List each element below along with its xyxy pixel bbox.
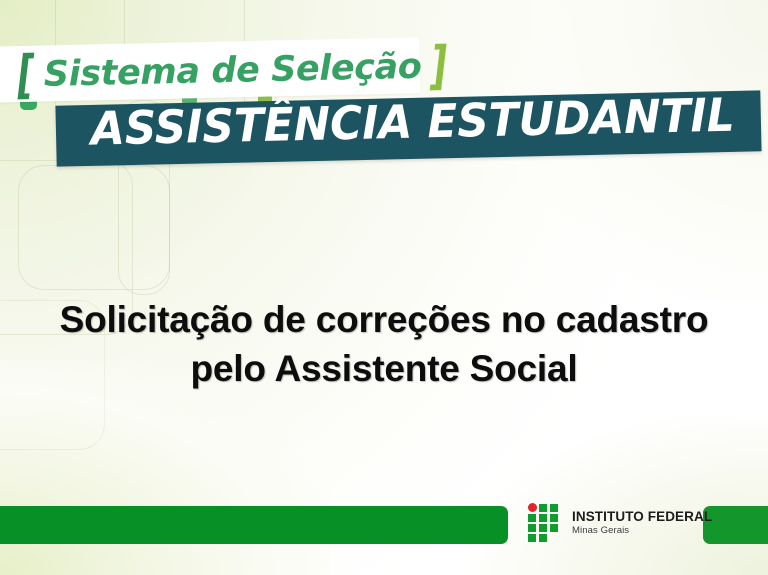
institution-logo-text: INSTITUTO FEDERAL Minas Gerais bbox=[572, 510, 712, 535]
footer-green-bar bbox=[0, 506, 508, 544]
ifmg-grid-logo-icon bbox=[528, 503, 565, 542]
institution-logo: INSTITUTO FEDERAL Minas Gerais bbox=[528, 503, 712, 542]
assistencia-banner-label: ASSISTÊNCIA ESTUDANTIL bbox=[90, 92, 735, 152]
presentation-slide: [ Sistema de Seleção ] ASSISTÊNCIA ESTUD… bbox=[0, 0, 768, 575]
background-glow-bottom-right bbox=[468, 415, 768, 575]
institution-name: INSTITUTO FEDERAL bbox=[572, 510, 712, 524]
footer-green-bar-right bbox=[703, 506, 768, 544]
bracket-left-icon: [ bbox=[17, 49, 35, 101]
slide-title: Solicitação de correções no cadastro pel… bbox=[0, 295, 768, 393]
institution-region: Minas Gerais bbox=[572, 526, 712, 536]
bracket-right-icon: ] bbox=[430, 40, 448, 92]
program-label: Sistema de Seleção bbox=[43, 49, 421, 92]
